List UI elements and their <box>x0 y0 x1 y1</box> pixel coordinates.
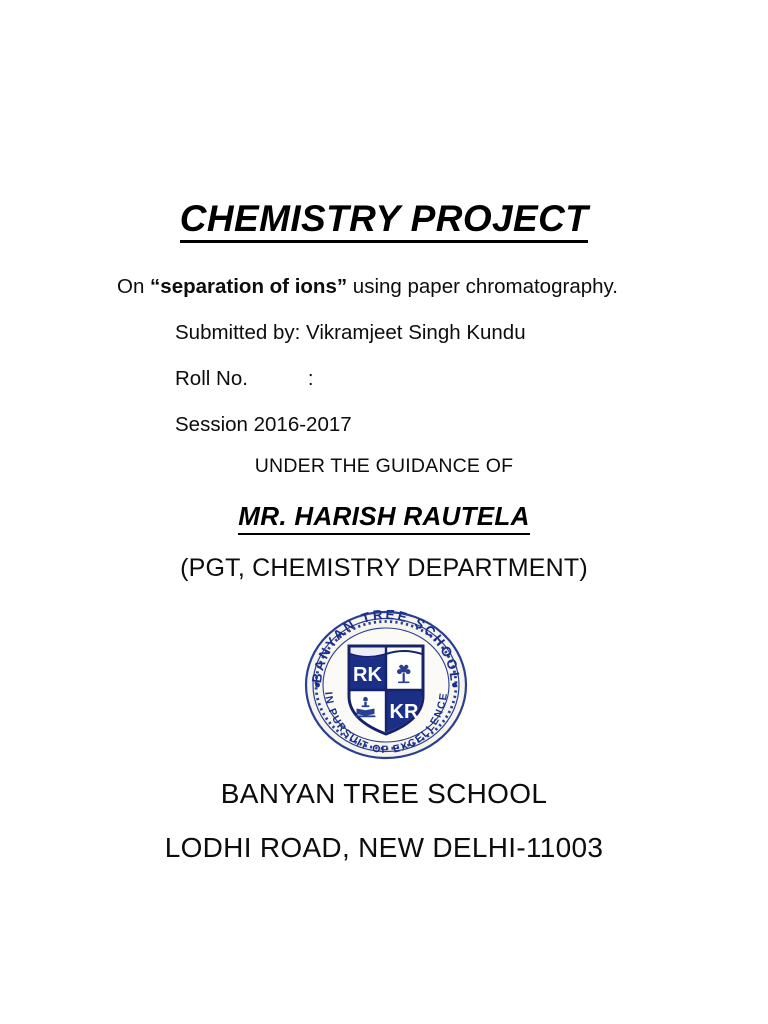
teacher-department: (PGT, CHEMISTRY DEPARTMENT) <box>0 554 768 583</box>
page-title-text: CHEMISTRY PROJECT <box>180 200 588 243</box>
project-subtitle: On “separation of ions” using paper chro… <box>117 274 717 300</box>
school-name-text: BANYAN TREE SCHOOL <box>221 778 547 809</box>
guidance-heading-text: UNDER THE GUIDANCE OF <box>255 455 513 477</box>
school-logo: BANYAN TREE SCHOOL IN PURSUIT OF EXCELLE… <box>303 610 469 760</box>
school-name: BANYAN TREE SCHOOL <box>0 778 768 810</box>
school-seal-icon: BANYAN TREE SCHOOL IN PURSUIT OF EXCELLE… <box>303 610 469 760</box>
document-page: CHEMISTRY PROJECT On “separation of ions… <box>0 0 768 1024</box>
session-text: Session 2016-2017 <box>175 413 352 436</box>
roll-no-colon: : <box>308 366 314 392</box>
subtitle-prefix: On <box>117 275 150 298</box>
teacher-name: MR. HARISH RAUTELA <box>0 501 768 535</box>
submitted-by-line: Submitted by: Vikramjeet Singh Kundu <box>175 320 526 346</box>
guidance-heading: UNDER THE GUIDANCE OF <box>0 455 768 478</box>
session-line: Session 2016-2017 <box>175 412 352 438</box>
roll-no-line: Roll No.: <box>175 366 314 392</box>
svg-text:RK: RK <box>353 664 382 686</box>
svg-text:KR: KR <box>390 701 419 723</box>
subtitle-quoted-topic: “separation of ions” <box>150 275 347 298</box>
teacher-department-text: (PGT, CHEMISTRY DEPARTMENT) <box>180 554 588 582</box>
school-address: LODHI ROAD, NEW DELHI-11003 <box>0 832 768 864</box>
submitted-by-text: Submitted by: Vikramjeet Singh Kundu <box>175 321 526 344</box>
subtitle-suffix: using paper chromatography. <box>347 275 618 298</box>
roll-no-label: Roll No. <box>175 366 248 392</box>
school-address-text: LODHI ROAD, NEW DELHI-11003 <box>165 832 604 863</box>
teacher-name-text: MR. HARISH RAUTELA <box>238 501 529 535</box>
page-title: CHEMISTRY PROJECT <box>0 200 768 243</box>
